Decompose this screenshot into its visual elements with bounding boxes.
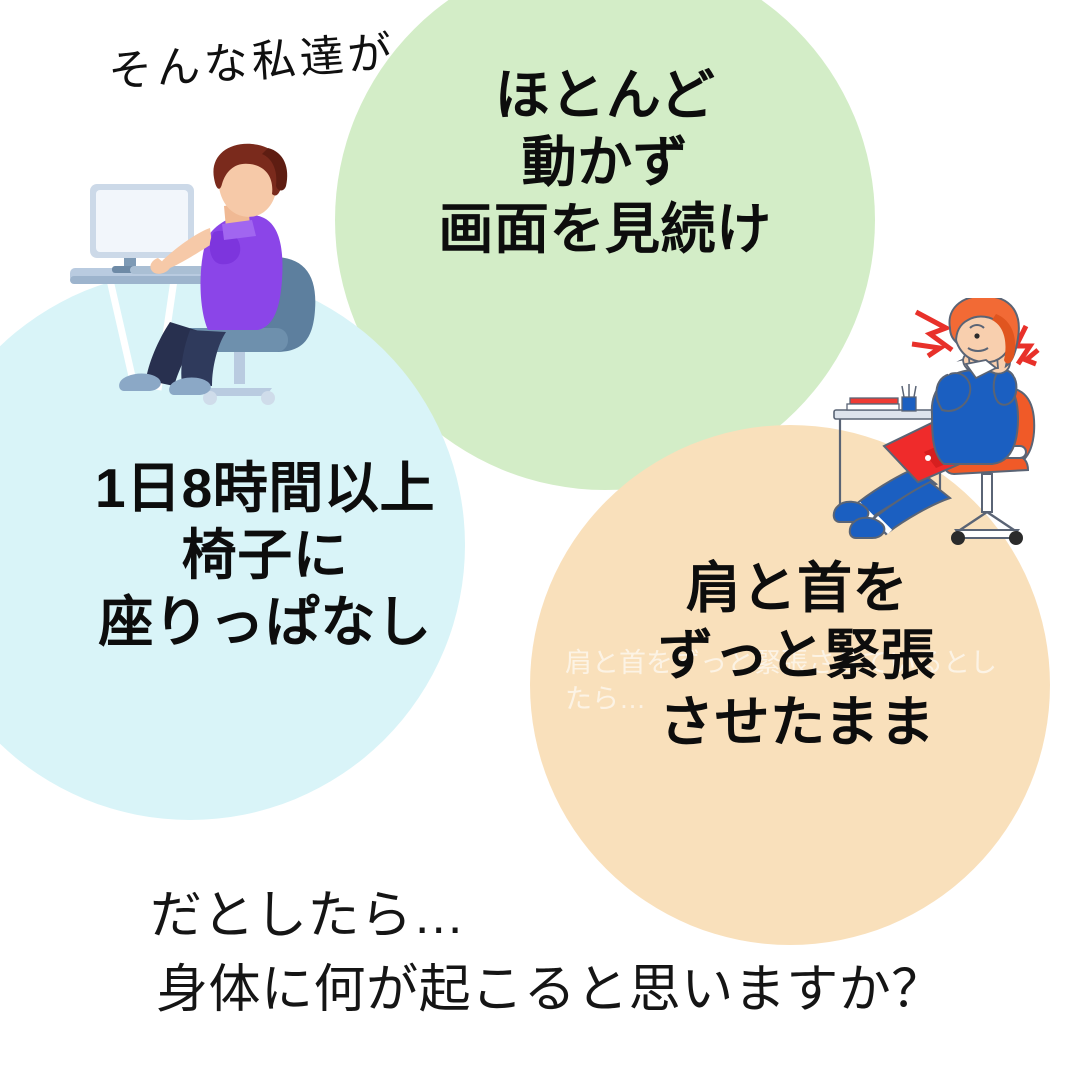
bubble-green-line-1: ほとんど (400, 62, 810, 129)
bubble-orange-line-2: ずっと緊張 (592, 622, 1002, 689)
bottom-question-line-1: だとしたら… (150, 880, 944, 954)
bubble-green-line-3: 画面を見続け (400, 196, 810, 263)
bubble-orange-line-1: 肩と首を (592, 555, 1002, 622)
bubble-blue-line-2: 椅子に (60, 522, 470, 589)
handwritten-note: そんな私達が (106, 16, 398, 100)
bubble-orange-text: 肩と首を ずっと緊張 させたまま (592, 555, 1002, 756)
bottom-question: だとしたら… 身体に何が起こると思いますか？ (150, 880, 944, 1028)
bubble-blue-line-3: 座りっぱなし (60, 589, 470, 656)
bubble-green-text: ほとんど 動かず 画面を見続け (400, 62, 810, 263)
bubble-blue-text: 1日8時間以上 椅子に 座りっぱなし (60, 455, 470, 656)
bottom-question-line-2: 身体に何が起こると思いますか？ (156, 954, 944, 1028)
infographic-canvas: そんな私達が ほとんど 動かず 画面を見続け 1日8時間以上 椅子に 座りっぱな… (0, 0, 1080, 1080)
bubble-blue-line-1: 1日8時間以上 (60, 455, 470, 522)
bubble-green-line-2: 動かず (400, 129, 810, 196)
man-at-desk-illustration (62, 140, 362, 415)
woman-neck-pain-illustration (820, 298, 1080, 563)
bubble-orange-line-3: させたまま (592, 689, 1002, 756)
